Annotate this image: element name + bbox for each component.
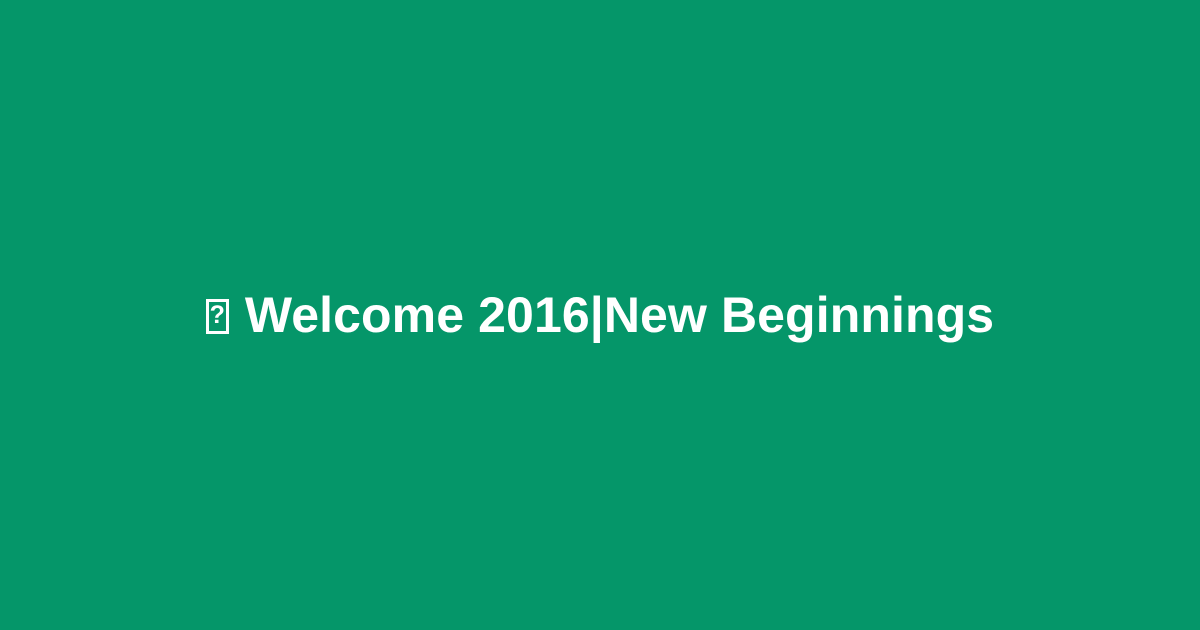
headline-text: Welcome 2016|New Beginnings <box>245 288 994 343</box>
og-card-canvas: ? Welcome 2016|New Beginnings <box>0 0 1200 630</box>
missing-glyph-tofu-icon: ? <box>206 299 229 334</box>
missing-glyph-question-mark: ? <box>210 303 225 328</box>
page-title: ? Welcome 2016|New Beginnings <box>182 288 1018 343</box>
